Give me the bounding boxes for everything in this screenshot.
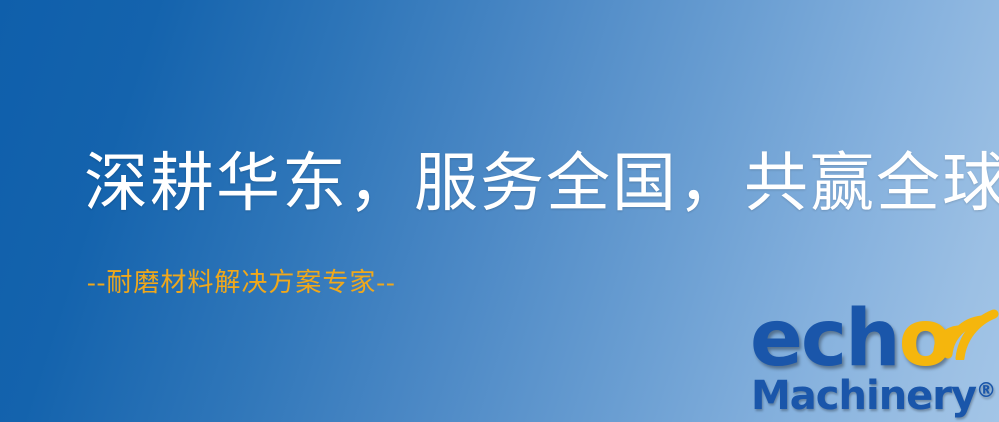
logo-tagline-text: Machinery bbox=[751, 373, 976, 419]
registered-trademark-icon: ® bbox=[976, 378, 996, 402]
logo-tagline: Machinery® bbox=[751, 376, 996, 416]
banner-subtitle: --耐磨材料解决方案专家-- bbox=[87, 270, 396, 296]
banner-headline: 深耕华东，服务全国，共赢全球 bbox=[84, 152, 999, 216]
logo-wordmark-prefix: ech bbox=[750, 294, 899, 384]
signal-arcs-icon bbox=[930, 296, 999, 360]
promo-banner: 深耕华东，服务全国，共赢全球 --耐磨材料解决方案专家-- echo Machi… bbox=[0, 0, 999, 422]
echo-machinery-logo: echo Machinery® bbox=[748, 300, 999, 422]
logo-wordmark: echo bbox=[750, 300, 950, 378]
